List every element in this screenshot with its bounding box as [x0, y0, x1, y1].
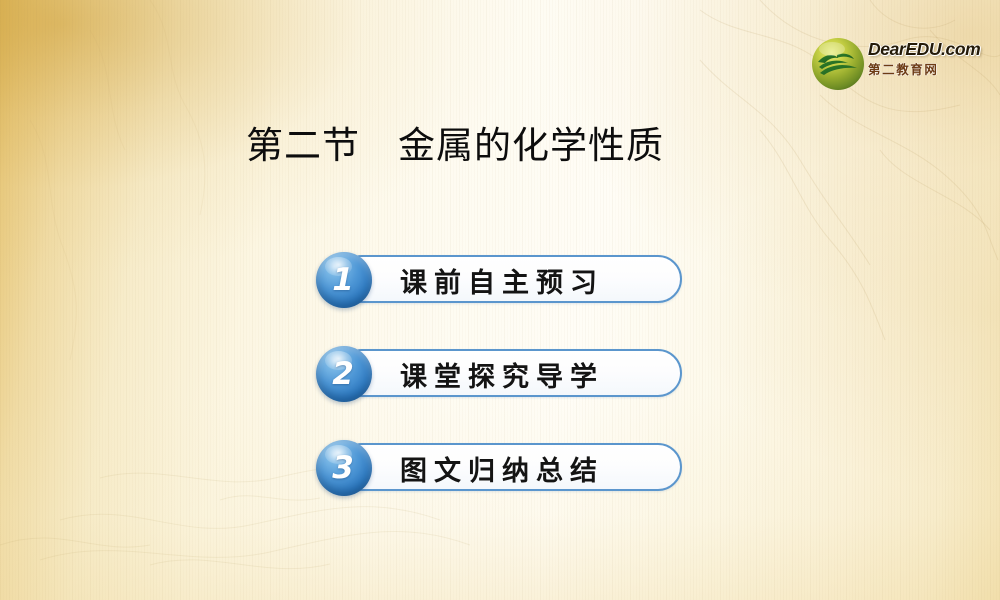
- menu-number-badge-2: 2: [316, 346, 372, 402]
- dearedu-emblem-icon: [810, 36, 866, 92]
- page-title: 第二节 金属的化学性质: [246, 124, 664, 168]
- logo-subtitle: 第二教育网: [868, 59, 990, 78]
- logo-text-block: DearEDU.com 第二教育网: [868, 40, 990, 78]
- presentation-slide: DearEDU.com 第二教育网 第二节 金属的化学性质 1 课前自主预习 2…: [0, 0, 1000, 600]
- menu-item-3[interactable]: 3 图文归纳总结: [316, 440, 684, 496]
- menu-number-1: 1: [316, 252, 372, 308]
- menu-label-1: 课前自主预习: [400, 252, 604, 308]
- menu-number-badge-3: 3: [316, 440, 372, 496]
- menu-number-badge-1: 1: [316, 252, 372, 308]
- menu-item-2[interactable]: 2 课堂探究导学: [316, 346, 684, 402]
- menu-number-3: 3: [316, 440, 372, 496]
- logo-title: DearEDU.com: [868, 40, 990, 58]
- menu-item-1[interactable]: 1 课前自主预习: [316, 252, 684, 308]
- section-menu: 1 课前自主预习 2 课堂探究导学 3 图文归纳总结: [316, 252, 684, 496]
- menu-label-2: 课堂探究导学: [400, 346, 604, 402]
- menu-number-2: 2: [316, 346, 372, 402]
- dearedu-logo: DearEDU.com 第二教育网: [810, 36, 990, 92]
- menu-label-3: 图文归纳总结: [400, 440, 604, 496]
